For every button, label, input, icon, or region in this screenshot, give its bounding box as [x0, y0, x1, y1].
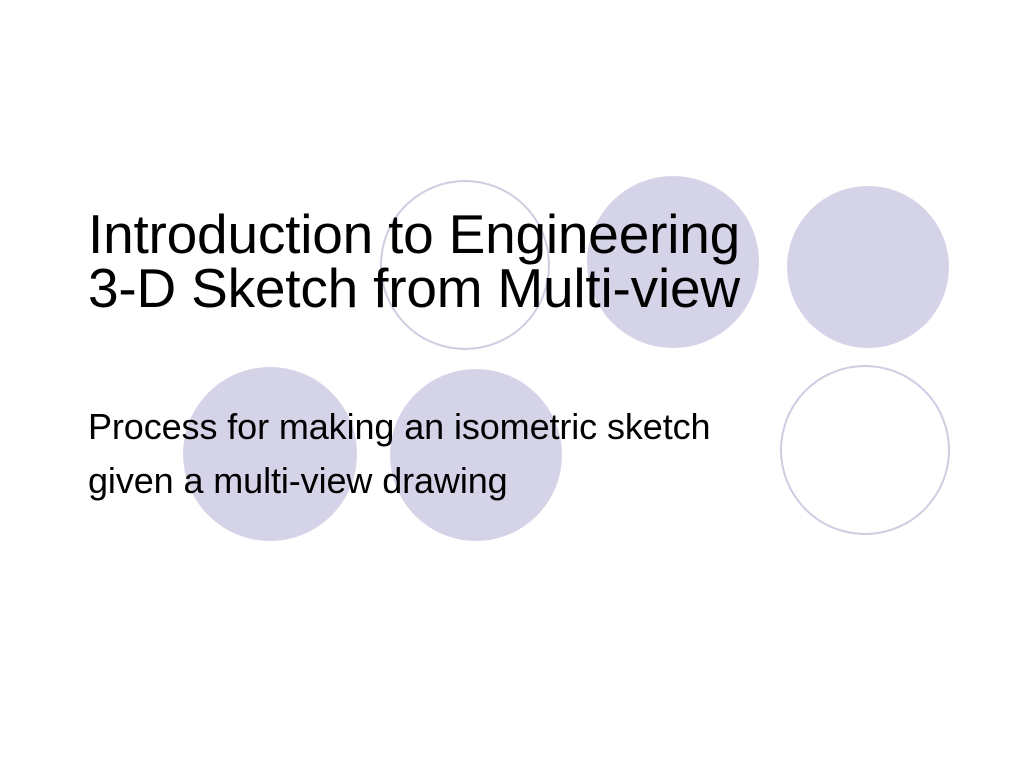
slide-text-layer: Introduction to Engineering 3-D Sketch f…: [0, 0, 1024, 768]
presentation-slide: Introduction to Engineering 3-D Sketch f…: [0, 0, 1024, 768]
slide-title-line-2: 3-D Sketch from Multi-view: [88, 261, 948, 315]
slide-subtitle: Process for making an isometric sketch g…: [88, 400, 948, 508]
slide-title: Introduction to Engineering 3-D Sketch f…: [88, 207, 948, 315]
slide-subtitle-line-1: Process for making an isometric sketch: [88, 400, 948, 454]
slide-subtitle-line-2: given a multi-view drawing: [88, 454, 948, 508]
slide-title-line-1: Introduction to Engineering: [88, 207, 948, 261]
